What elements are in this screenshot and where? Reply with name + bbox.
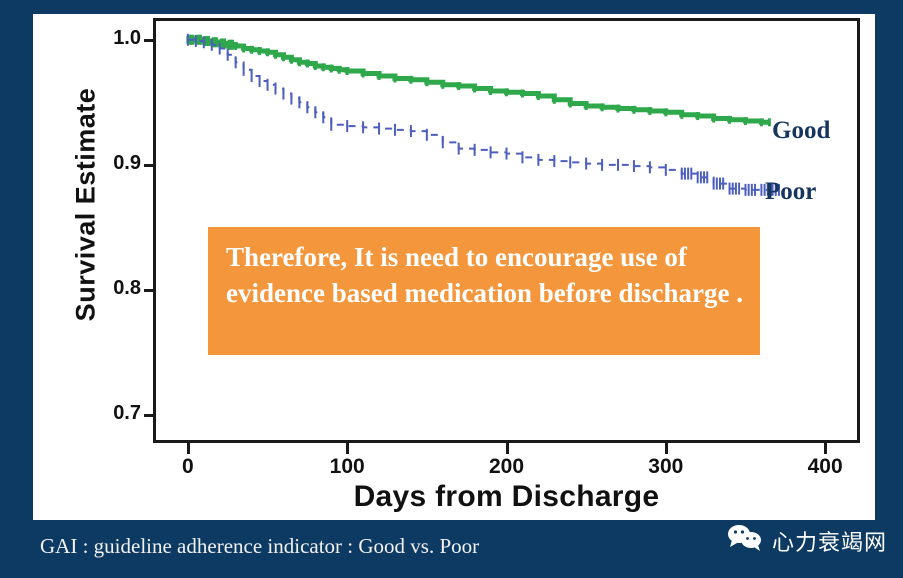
footer-bar: GAI : guideline adherence indicator : Go… (0, 520, 903, 578)
brand-mark: 心力衰竭网 (726, 523, 887, 558)
x-tick-label: 200 (467, 455, 547, 479)
slide-canvas: Survival Estimate 0.70.80.91.0 010020030… (33, 14, 875, 520)
x-tick-label: 0 (148, 455, 228, 479)
y-tick-label: 0.7 (81, 402, 141, 425)
x-tick-label: 100 (307, 455, 387, 479)
slide-root: Survival Estimate 0.70.80.91.0 010020030… (0, 0, 903, 578)
series-label-good: Good (772, 117, 830, 145)
wechat-icon (726, 523, 766, 558)
x-tick-mark (506, 443, 509, 454)
x-tick-label: 300 (626, 455, 706, 479)
x-tick-mark (346, 443, 349, 454)
x-tick-label: 400 (785, 455, 865, 479)
y-tick-label: 0.9 (81, 152, 141, 175)
callout-text: Therefore, It is need to encourage use o… (226, 239, 744, 312)
brand-name: 心力衰竭网 (772, 525, 887, 557)
y-tick-label: 0.8 (81, 277, 141, 300)
series-label-poor: Poor (765, 178, 816, 206)
x-tick-mark (187, 443, 190, 454)
callout-box: Therefore, It is need to encourage use o… (208, 227, 760, 355)
y-tick-label: 1.0 (81, 27, 141, 50)
x-axis-title: Days from Discharge (153, 480, 860, 514)
x-tick-mark (824, 443, 827, 454)
x-tick-mark (665, 443, 668, 454)
y-axis-title: Survival Estimate (71, 55, 102, 355)
footer-caption: GAI : guideline adherence indicator : Go… (40, 534, 479, 559)
censor-marks-good (188, 35, 770, 127)
